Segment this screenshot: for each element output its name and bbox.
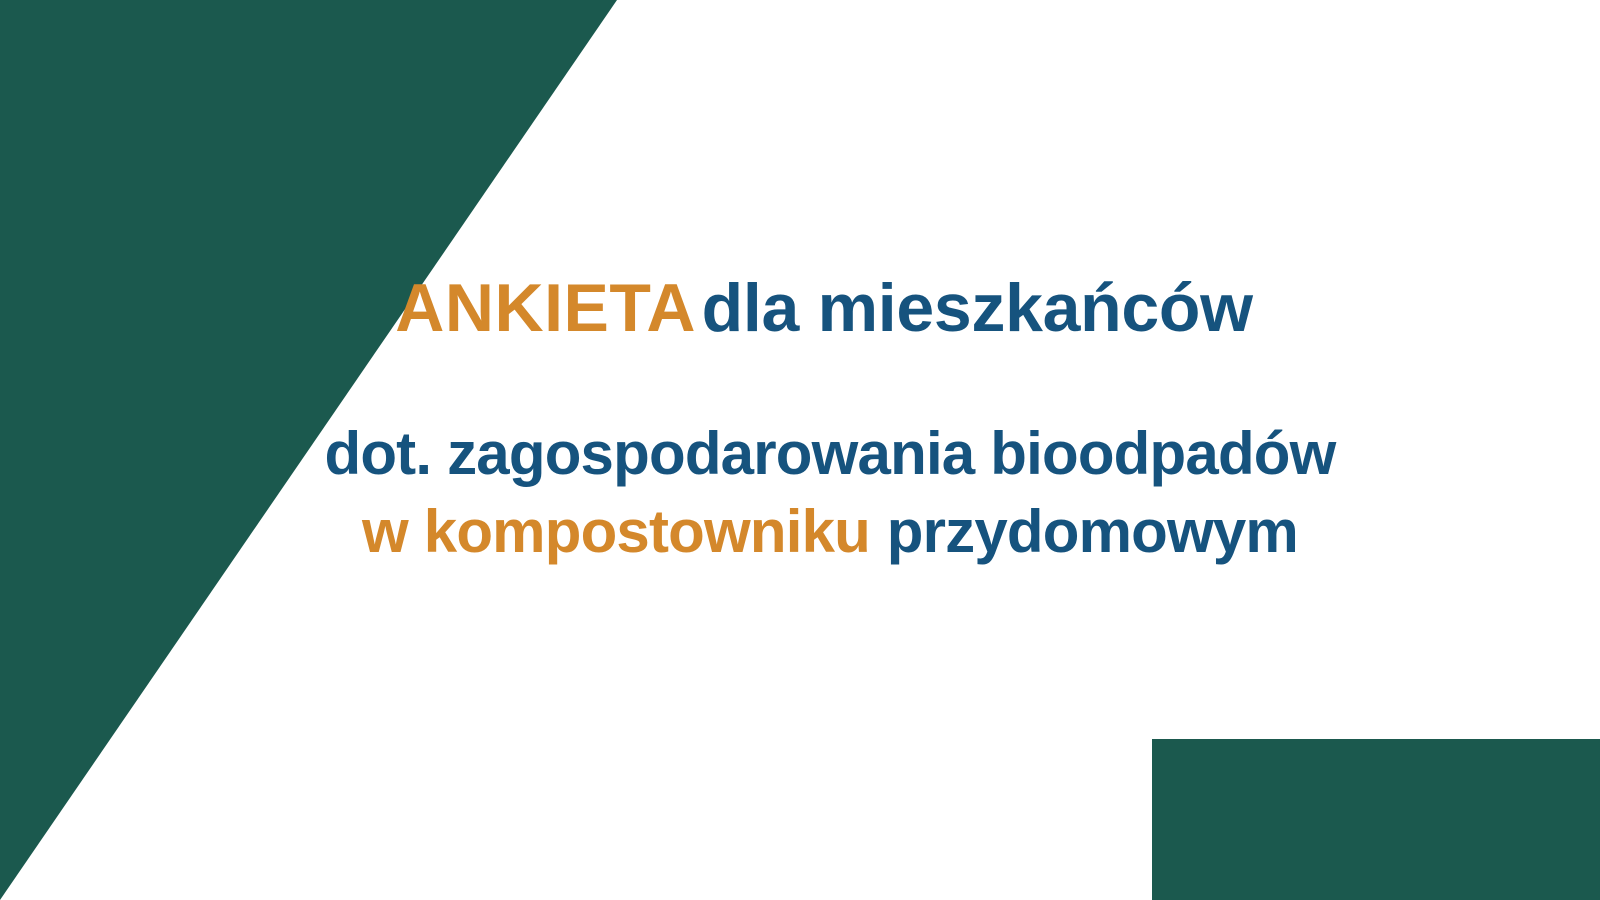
- slide-canvas: ANKIETA dla mieszkańców dot. zagospodaro…: [0, 0, 1600, 900]
- green-corner-block: [1152, 739, 1600, 900]
- background-shapes: [0, 0, 1600, 900]
- green-diagonal-wedge: [0, 0, 617, 900]
